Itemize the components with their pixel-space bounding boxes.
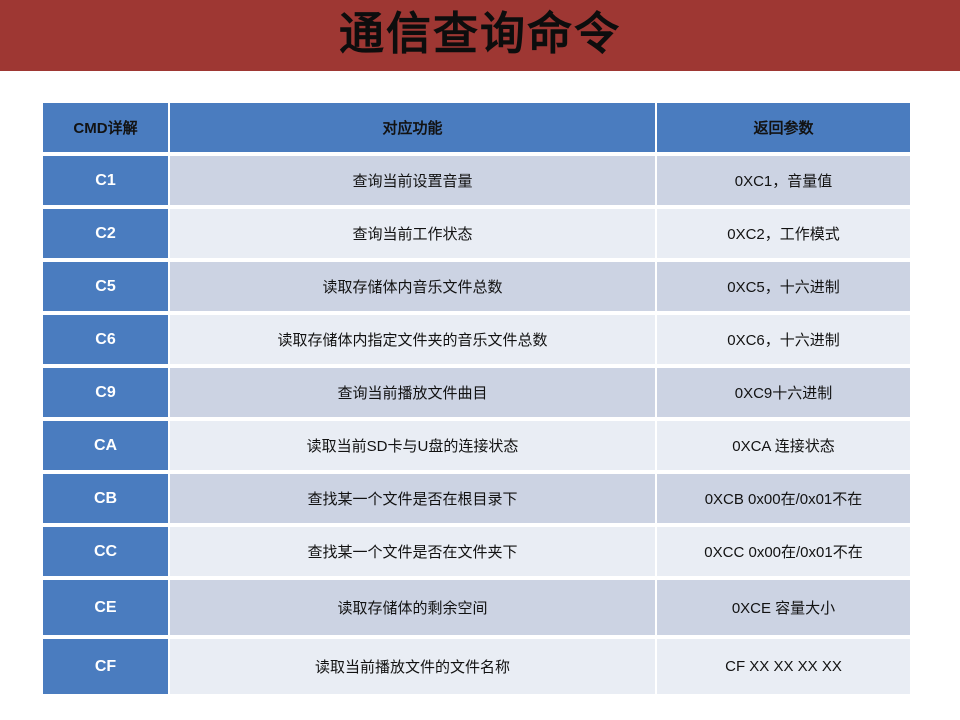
cell-cmd: C5 xyxy=(43,260,168,313)
table-row: C6读取存储体内指定文件夹的音乐文件总数0XC6，十六进制 xyxy=(43,313,910,366)
cell-cmd: C1 xyxy=(43,154,168,207)
cell-return: 0XCE 容量大小 xyxy=(655,578,910,637)
column-header-function: 对应功能 xyxy=(168,101,655,154)
table-row: CA读取当前SD卡与U盘的连接状态0XCA 连接状态 xyxy=(43,419,910,472)
cell-return: 0XC2，工作模式 xyxy=(655,207,910,260)
table-row: CE读取存储体的剩余空间0XCE 容量大小 xyxy=(43,578,910,637)
table-row: C1查询当前设置音量0XC1，音量值 xyxy=(43,154,910,207)
table-row: C5读取存储体内音乐文件总数0XC5，十六进制 xyxy=(43,260,910,313)
cell-cmd: CE xyxy=(43,578,168,637)
table-row: CB查找某一个文件是否在根目录下0XCB 0x00在/0x01不在 xyxy=(43,472,910,525)
table-header-row: CMD详解 对应功能 返回参数 xyxy=(43,101,910,154)
cell-return: 0XCA 连接状态 xyxy=(655,419,910,472)
cell-function: 查询当前播放文件曲目 xyxy=(168,366,655,419)
cell-cmd: C2 xyxy=(43,207,168,260)
cell-function: 读取存储体内指定文件夹的音乐文件总数 xyxy=(168,313,655,366)
table-row: CF读取当前播放文件的文件名称CF XX XX XX XX xyxy=(43,637,910,694)
cell-return: 0XC5，十六进制 xyxy=(655,260,910,313)
cell-function: 读取存储体内音乐文件总数 xyxy=(168,260,655,313)
cell-return: 0XCB 0x00在/0x01不在 xyxy=(655,472,910,525)
command-table-container: CMD详解 对应功能 返回参数 C1查询当前设置音量0XC1，音量值C2查询当前… xyxy=(43,101,910,694)
cell-function: 查找某一个文件是否在根目录下 xyxy=(168,472,655,525)
table-row: C2查询当前工作状态0XC2，工作模式 xyxy=(43,207,910,260)
cell-cmd: CB xyxy=(43,472,168,525)
cell-function: 查询当前设置音量 xyxy=(168,154,655,207)
cell-return: 0XC9十六进制 xyxy=(655,366,910,419)
cell-return: 0XCC 0x00在/0x01不在 xyxy=(655,525,910,578)
cell-return: CF XX XX XX XX xyxy=(655,637,910,694)
cell-return: 0XC6，十六进制 xyxy=(655,313,910,366)
command-table: CMD详解 对应功能 返回参数 C1查询当前设置音量0XC1，音量值C2查询当前… xyxy=(43,101,910,694)
cell-function: 读取当前SD卡与U盘的连接状态 xyxy=(168,419,655,472)
cell-cmd: CF xyxy=(43,637,168,694)
cell-return: 0XC1，音量值 xyxy=(655,154,910,207)
cell-cmd: CC xyxy=(43,525,168,578)
cell-cmd: C9 xyxy=(43,366,168,419)
title-banner: 通信查询命令 xyxy=(0,0,960,71)
cell-function: 查找某一个文件是否在文件夹下 xyxy=(168,525,655,578)
page-title: 通信查询命令 xyxy=(339,12,621,57)
cell-cmd: CA xyxy=(43,419,168,472)
cell-cmd: C6 xyxy=(43,313,168,366)
table-header: CMD详解 对应功能 返回参数 xyxy=(43,101,910,154)
cell-function: 读取当前播放文件的文件名称 xyxy=(168,637,655,694)
table-row: CC查找某一个文件是否在文件夹下0XCC 0x00在/0x01不在 xyxy=(43,525,910,578)
table-body: C1查询当前设置音量0XC1，音量值C2查询当前工作状态0XC2，工作模式C5读… xyxy=(43,154,910,694)
column-header-return: 返回参数 xyxy=(655,101,910,154)
table-row: C9查询当前播放文件曲目0XC9十六进制 xyxy=(43,366,910,419)
cell-function: 读取存储体的剩余空间 xyxy=(168,578,655,637)
cell-function: 查询当前工作状态 xyxy=(168,207,655,260)
column-header-cmd: CMD详解 xyxy=(43,101,168,154)
